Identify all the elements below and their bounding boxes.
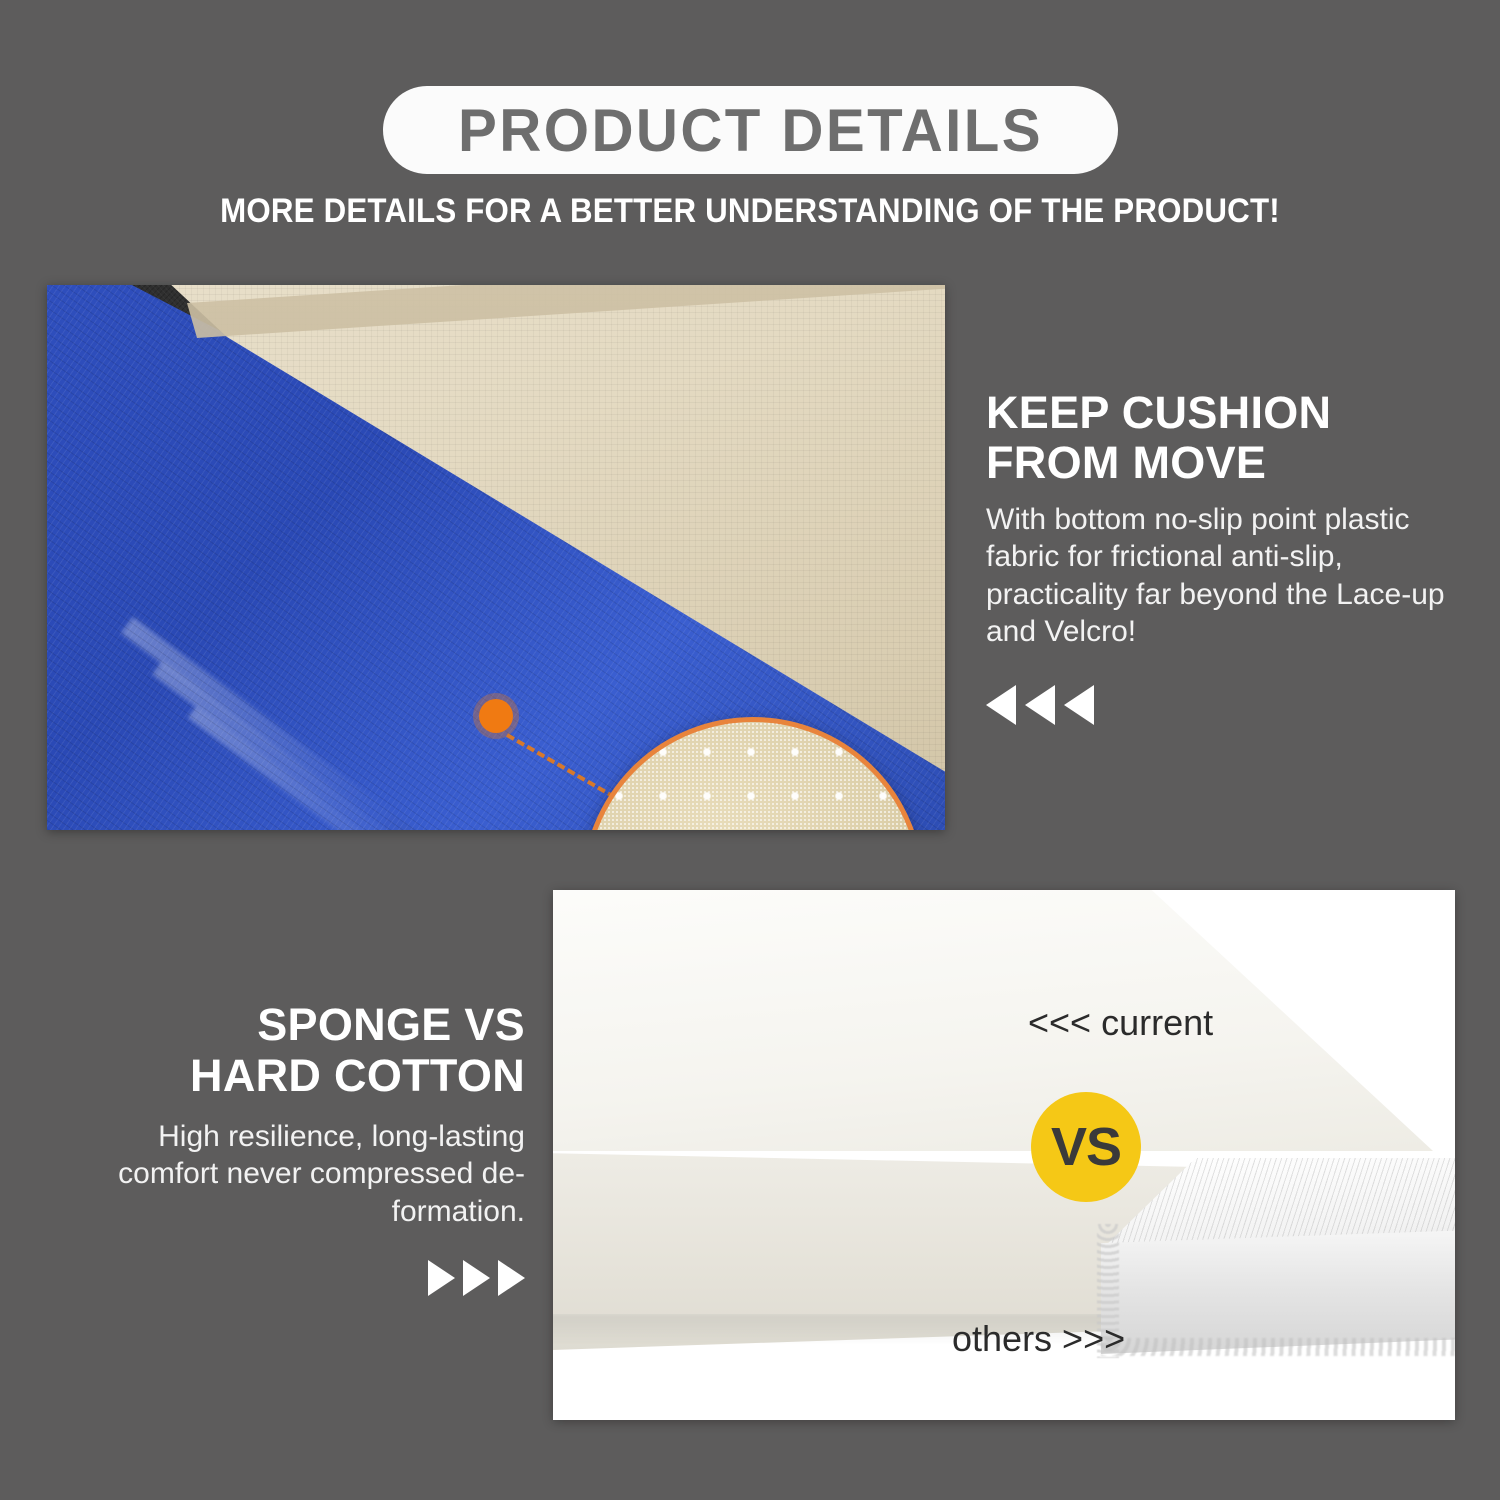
anti-slip-cushion-photo xyxy=(47,285,945,830)
fabric-fold xyxy=(188,706,596,830)
triangle-right-icon xyxy=(498,1260,525,1296)
sponge-vs-hard-cotton-block: SPONGE VS HARD COTTON High resilience, l… xyxy=(60,1000,525,1296)
triangle-right-icon xyxy=(428,1260,455,1296)
hard-cotton-side-face xyxy=(1101,1228,1455,1354)
triangle-right-icon xyxy=(463,1260,490,1296)
fabric-fold xyxy=(121,617,580,830)
page-title-pill: PRODUCT DETAILS xyxy=(383,86,1118,174)
product-details-infographic: PRODUCT DETAILS MORE DETAILS FOR A BETTE… xyxy=(0,0,1500,1500)
feature-bottom-body: High resilience, long-lasting comfort ne… xyxy=(60,1118,525,1231)
keep-cushion-from-move-block: KEEP CUSHION FROM MOVE With bottom no-sl… xyxy=(986,388,1448,725)
hard-cotton-bottom-fiber xyxy=(1101,1338,1455,1356)
label-others: others >>> xyxy=(952,1318,1125,1360)
vs-badge: VS xyxy=(1031,1092,1141,1202)
magnifier-circle-icon xyxy=(582,717,924,830)
vs-badge-label: VS xyxy=(1051,1120,1121,1174)
feature-bottom-title-line1: SPONGE VS xyxy=(60,1000,525,1051)
label-current: <<< current xyxy=(1028,1002,1213,1044)
feature-top-arrows xyxy=(986,685,1448,725)
feature-top-body: With bottom no-slip point plastic fabric… xyxy=(986,501,1448,651)
feature-top-title-line2: FROM MOVE xyxy=(986,438,1448,488)
marker-dot-icon xyxy=(479,699,513,733)
sponge-foam-top-face xyxy=(553,890,1433,1182)
feature-bottom-title: SPONGE VS HARD COTTON xyxy=(60,1000,525,1102)
triangle-left-icon xyxy=(986,685,1016,725)
feature-bottom-arrows xyxy=(60,1260,525,1296)
page-title: PRODUCT DETAILS xyxy=(458,96,1043,165)
triangle-left-icon xyxy=(1025,685,1055,725)
feature-top-title: KEEP CUSHION FROM MOVE xyxy=(986,388,1448,489)
triangle-left-icon xyxy=(1064,685,1094,725)
feature-top-title-line1: KEEP CUSHION xyxy=(986,388,1448,438)
feature-bottom-title-line2: HARD COTTON xyxy=(60,1051,525,1102)
page-subtitle: MORE DETAILS FOR A BETTER UNDERSTANDING … xyxy=(60,192,1440,231)
